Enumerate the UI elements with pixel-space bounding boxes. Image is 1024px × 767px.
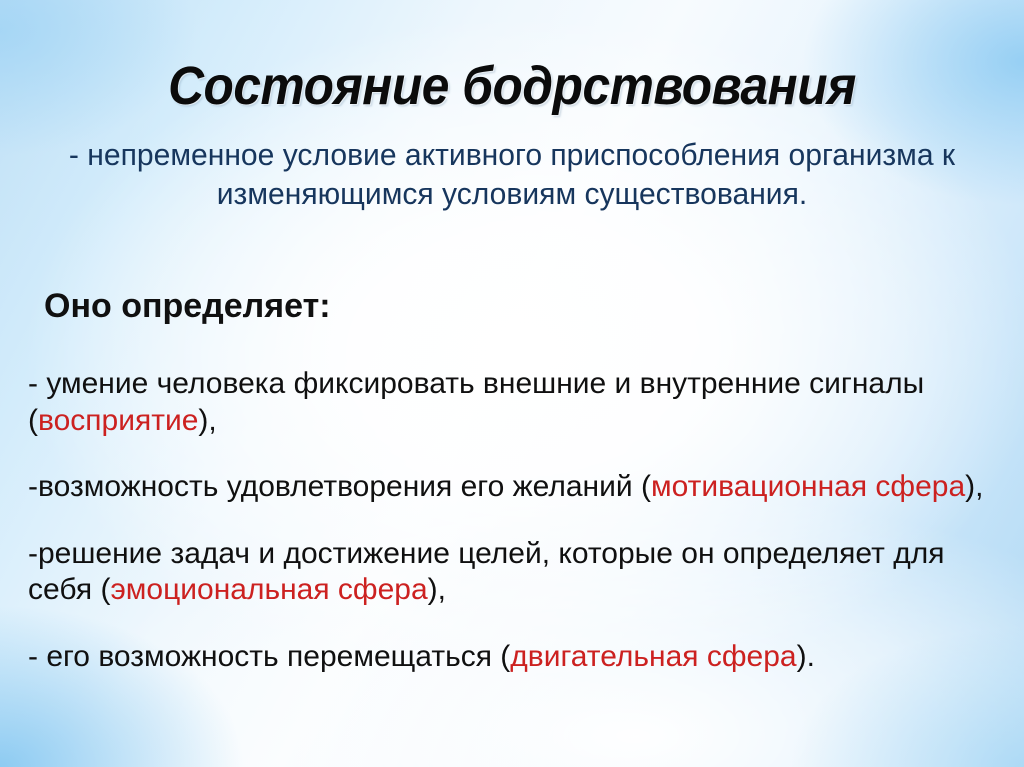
highlighted-term: эмоциональная сфера	[110, 573, 427, 606]
highlighted-term: двигательная сфера	[510, 640, 796, 673]
highlighted-term: восприятие	[38, 404, 198, 437]
slide-canvas: Состояние бодрствования - непременное ус…	[0, 0, 1024, 767]
list-item: -решение задач и достижение целей, котор…	[28, 536, 1006, 609]
section-heading: Оно определяет:	[44, 288, 331, 325]
list-item: - умение человека фиксировать внешние и …	[28, 366, 1006, 439]
lead-paragraph: - непременное условие активного приспосо…	[39, 135, 986, 213]
bullet-text-prefix: -возможность удовлетворения его желаний …	[28, 470, 651, 503]
bullet-text-suffix: ),	[428, 573, 446, 606]
slide-content: Состояние бодрствования - непременное ус…	[0, 0, 1024, 767]
highlighted-term: мотивационная сфера	[651, 470, 965, 503]
bullet-text-suffix: ),	[965, 470, 983, 503]
bullet-text-prefix: - его возможность перемещаться (	[28, 640, 510, 673]
page-title: Состояние бодрствования	[41, 58, 983, 114]
list-item: - его возможность перемещаться (двигател…	[28, 639, 1006, 676]
bullet-text-suffix: ),	[198, 404, 216, 437]
bullet-text-suffix: ).	[797, 640, 815, 673]
list-item: -возможность удовлетворения его желаний …	[28, 469, 1006, 506]
bullet-list: - умение человека фиксировать внешние и …	[28, 336, 1006, 676]
